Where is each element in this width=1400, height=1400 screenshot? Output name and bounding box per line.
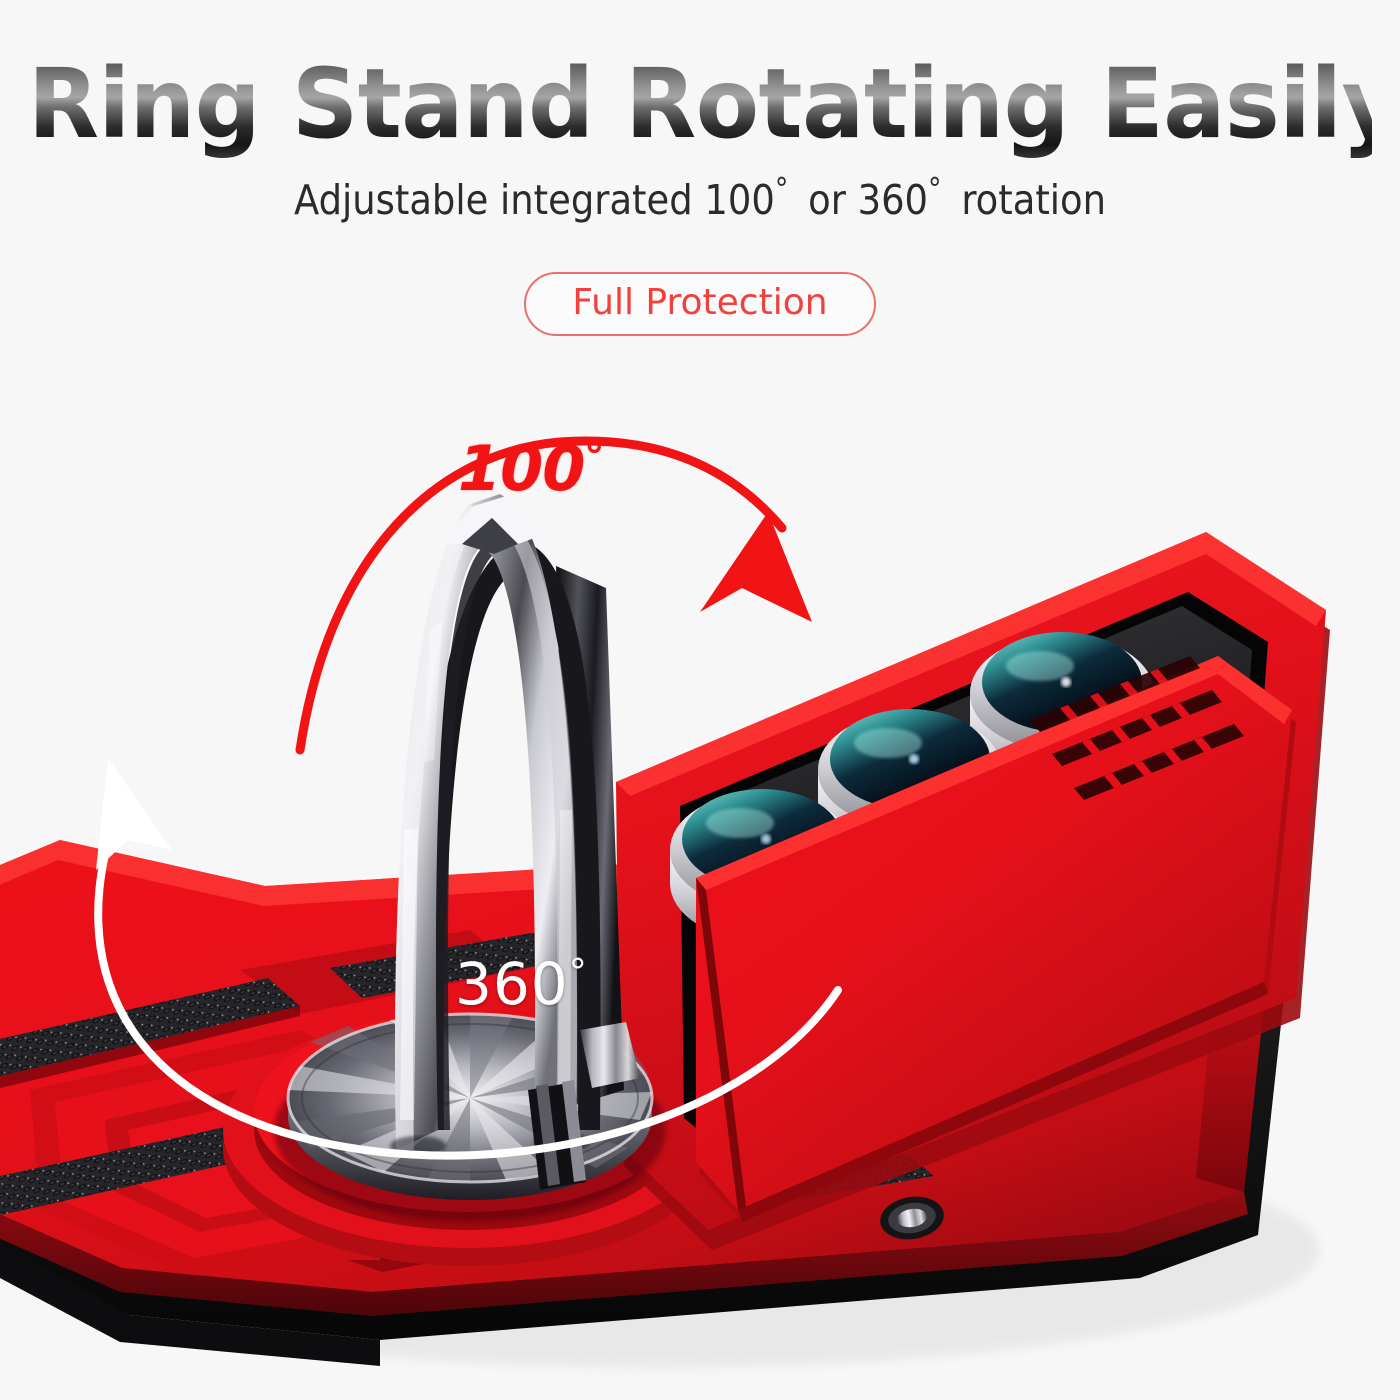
subtitle-degree-2: ° [928, 172, 942, 207]
status-badge: Full Protection [524, 272, 875, 336]
subtitle-suffix: rotation [961, 176, 1106, 224]
arrowhead-down-right [700, 512, 812, 622]
spin-angle-value: 360 [455, 950, 569, 1018]
kickstand-assembly[interactable] [274, 494, 666, 1222]
product-marketing-banner: Ring Stand Rotating Easily Adjustable in… [0, 0, 1400, 1400]
subtitle-middle: or 360 [808, 176, 928, 224]
subtitle-prefix: Adjustable integrated 100 [294, 176, 775, 224]
product-illustration [0, 330, 1400, 1400]
arrowhead-up-left [96, 758, 172, 870]
page-title: Ring Stand Rotating Easily [28, 48, 1372, 160]
badge-container: Full Protection [0, 272, 1400, 336]
tilt-angle-value: 100 [458, 432, 584, 505]
tilt-angle-label: 100° [458, 432, 603, 505]
page-subtitle: Adjustable integrated 100°or 360°rotatio… [70, 172, 1330, 224]
subtitle-degree-1: ° [775, 172, 789, 207]
spin-angle-label: 360° [455, 950, 588, 1018]
spin-angle-degree: ° [569, 952, 588, 993]
tilt-angle-degree: ° [584, 434, 603, 480]
